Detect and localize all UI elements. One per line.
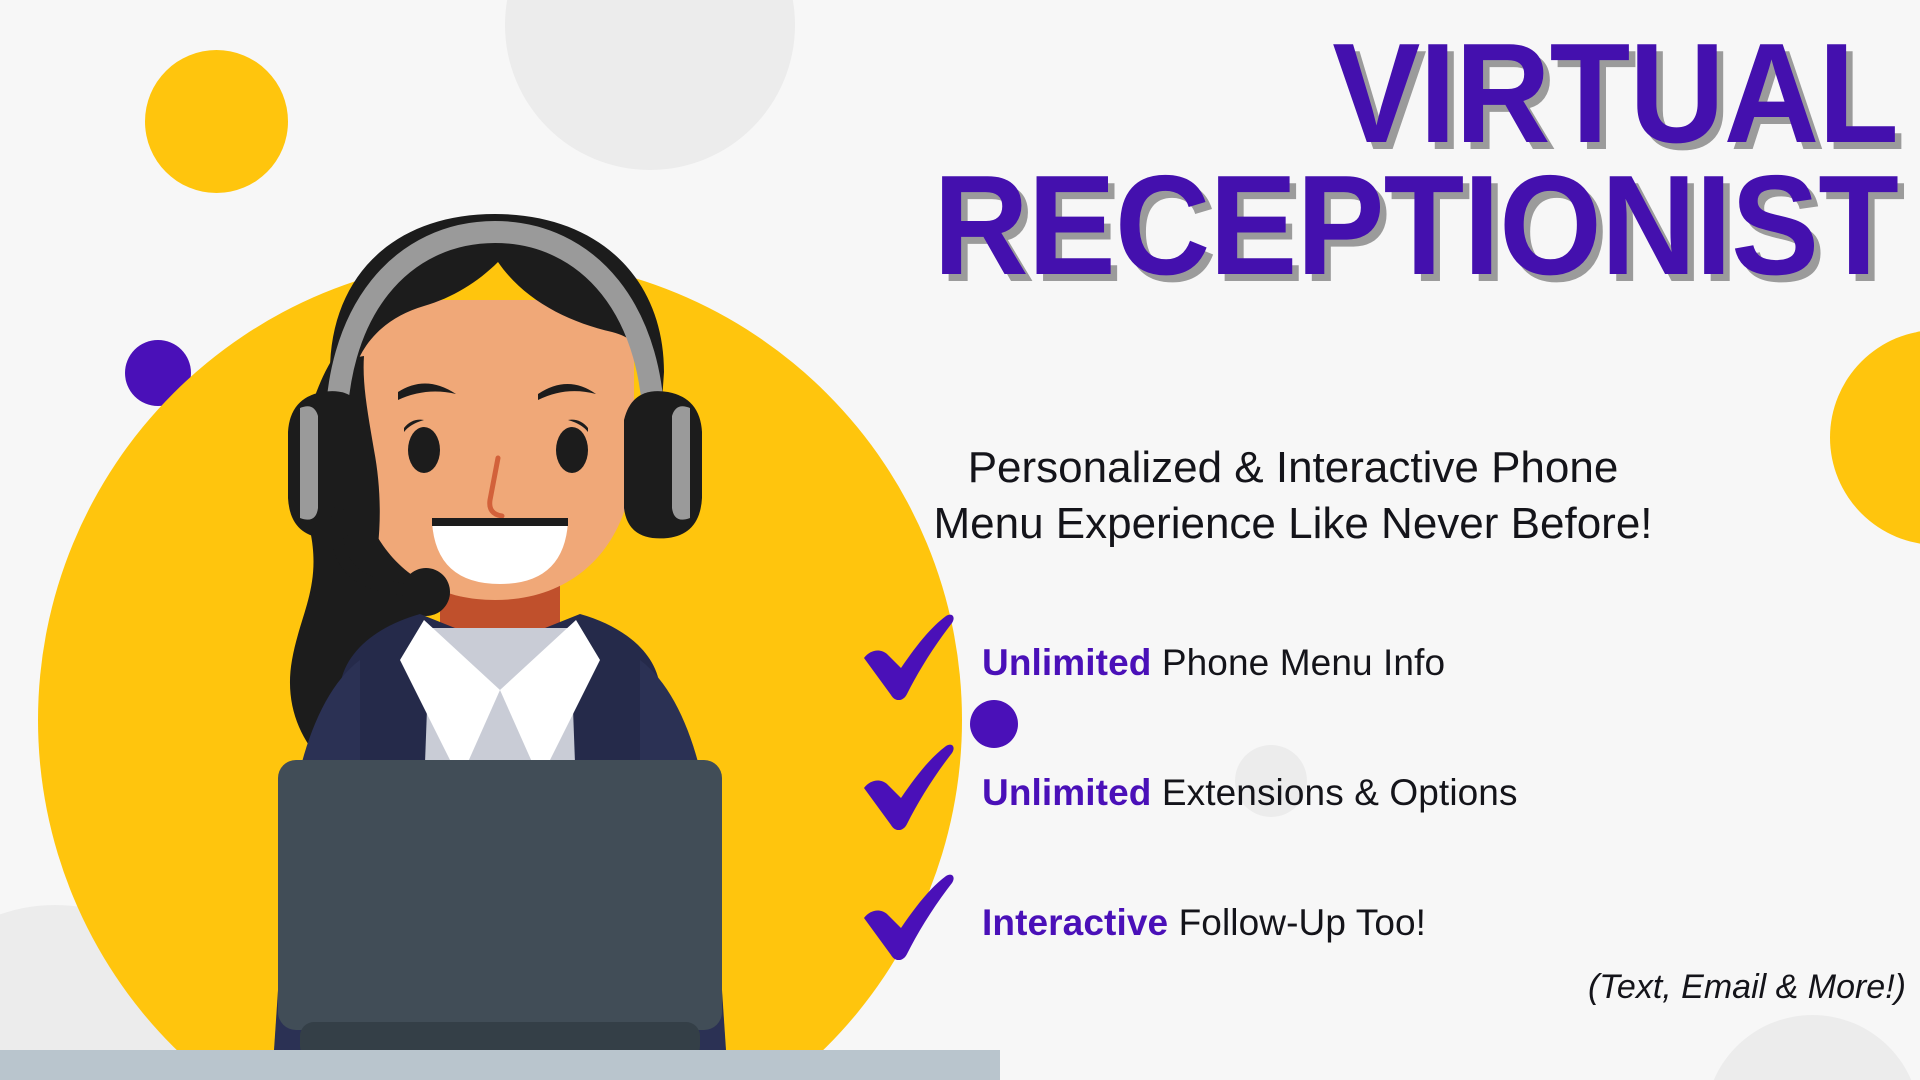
list-item-rest: Follow-Up Too! xyxy=(1168,902,1426,943)
subtitle-line-2: Menu Experience Like Never Before! xyxy=(700,496,1886,552)
subtitle: Personalized & Interactive Phone Menu Ex… xyxy=(700,440,1920,553)
eye-right xyxy=(556,427,588,473)
microphone-tip xyxy=(402,568,450,616)
headset-earcup-left xyxy=(288,391,366,538)
headline-line-1: VIRTUAL xyxy=(784,28,1898,160)
content-column: VIRTUAL RECEPTIONIST Personalized & Inte… xyxy=(700,0,1920,1080)
lip-line xyxy=(432,518,568,526)
list-item-rest: Extensions & Options xyxy=(1151,772,1517,813)
headline-line-2: RECEPTIONIST xyxy=(784,160,1898,292)
list-item: Unlimited Extensions & Options xyxy=(860,750,1920,836)
eye-left xyxy=(408,427,440,473)
laptop-lid xyxy=(278,760,722,1030)
list-item: Interactive Follow-Up Too! xyxy=(860,880,1920,966)
promotional-banner: VIRTUAL RECEPTIONIST Personalized & Inte… xyxy=(0,0,1920,1080)
headset-earcup-accent-right xyxy=(672,406,690,519)
page-title: VIRTUAL RECEPTIONIST xyxy=(700,28,1920,292)
note-text: (Text, Email & More!) xyxy=(860,968,1920,1007)
list-item-emphasis: Interactive xyxy=(982,902,1168,943)
list-item-rest: Phone Menu Info xyxy=(1151,642,1445,683)
check-icon xyxy=(860,744,956,830)
list-item-label: Unlimited Phone Menu Info xyxy=(982,642,1445,684)
list-item: Unlimited Phone Menu Info xyxy=(860,620,1920,706)
check-icon xyxy=(860,614,956,700)
check-icon xyxy=(860,874,956,960)
headset-earcup-accent-left xyxy=(300,406,318,519)
subtitle-line-1: Personalized & Interactive Phone xyxy=(700,440,1886,496)
list-item-label: Unlimited Extensions & Options xyxy=(982,772,1518,814)
headset-earcup-right xyxy=(624,391,702,538)
list-item-label: Interactive Follow-Up Too! xyxy=(982,902,1426,944)
list-item-emphasis: Unlimited xyxy=(982,642,1151,683)
list-item-emphasis: Unlimited xyxy=(982,772,1151,813)
feature-checklist: Unlimited Phone Menu Info Unlimited Exte… xyxy=(860,620,1920,1007)
